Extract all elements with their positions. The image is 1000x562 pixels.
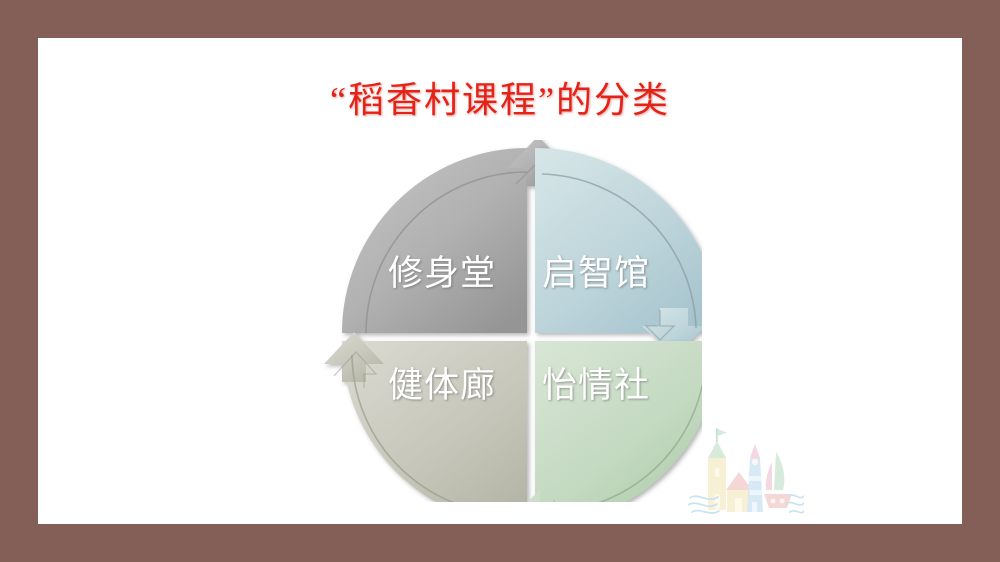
quadrant-bottom-left[interactable] <box>324 332 527 502</box>
slide-frame: “稻香村课程”的分类 <box>0 0 1000 562</box>
cycle-diagram: 修身堂 启智馆 健体廊 怡情社 <box>302 140 702 502</box>
quadrant-top-right[interactable] <box>535 148 702 356</box>
quadrant-top-left[interactable] <box>342 140 568 333</box>
lighthouse-icon <box>747 444 763 512</box>
decoration-watermark <box>688 424 804 520</box>
sailboat-icon <box>764 452 792 508</box>
slide-canvas: “稻香村课程”的分类 <box>38 38 962 524</box>
page-title: “稻香村课程”的分类 <box>38 76 962 124</box>
quadrant-bottom-right[interactable] <box>508 341 702 502</box>
